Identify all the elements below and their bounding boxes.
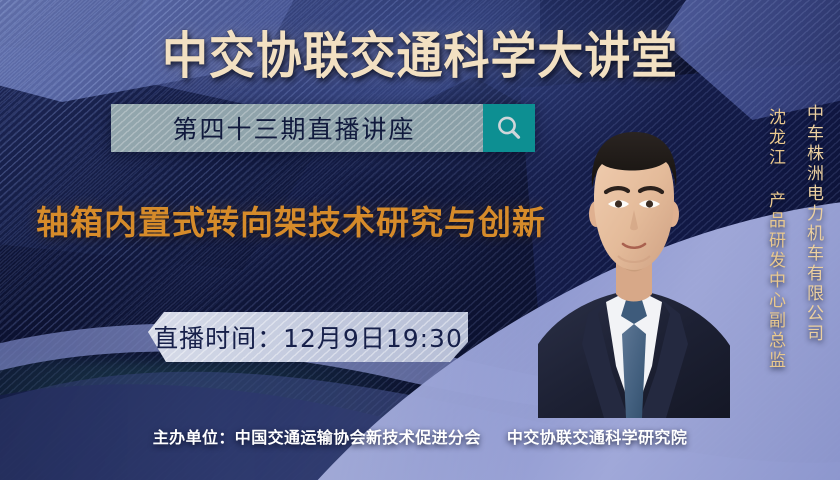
speaker-name-title: 沈龙江 产品研发中心副总监: [763, 108, 788, 371]
search-button[interactable]: [483, 104, 535, 152]
organizer-name-1: 中国交通运输协会新技术促进分会: [235, 428, 481, 447]
speaker-portrait: [538, 118, 730, 418]
episode-banner: 第四十三期直播讲座: [111, 104, 535, 152]
organizer-name-2: 中交协联交通科学研究院: [507, 428, 687, 447]
episode-label-bar: 第四十三期直播讲座: [111, 104, 483, 152]
page-title: 中交协联交通科学大讲堂: [34, 16, 807, 88]
broadcast-time-label: 直播时间：12月9日19:30: [153, 319, 463, 355]
livestream-poster: 中交协联交通科学大讲堂 第四十三期直播讲座 轴箱内置式转向架技术研究与创新 直播…: [0, 0, 840, 480]
organizer-footer: 主办单位：中国交通运输协会新技术促进分会中交协联交通科学研究院: [0, 424, 840, 448]
episode-label: 第四十三期直播讲座: [172, 110, 421, 146]
search-icon: [494, 113, 524, 143]
speaker-company: 中车株洲电力机车有限公司: [801, 104, 826, 344]
broadcast-time-badge: 直播时间：12月9日19:30: [148, 312, 468, 362]
topic-title: 轴箱内置式转向架技术研究与创新: [36, 196, 546, 244]
organizer-prefix: 主办单位：: [153, 428, 235, 447]
